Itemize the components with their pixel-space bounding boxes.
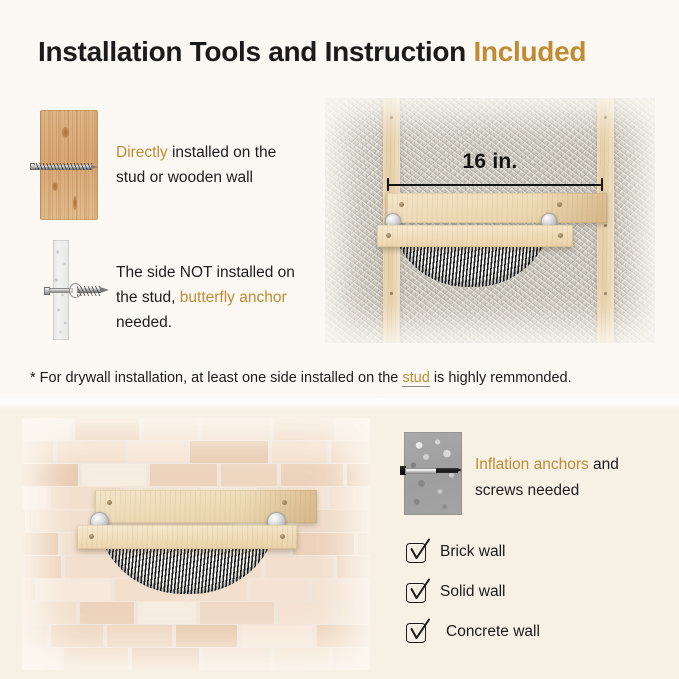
brick <box>22 602 76 624</box>
shelf-backplate <box>387 193 607 223</box>
brick-row <box>22 625 370 647</box>
checklist-label: Concrete wall <box>446 623 540 641</box>
brick-row <box>22 602 370 624</box>
cat-hammock-shelf <box>377 193 607 293</box>
checkmark-icon <box>408 618 432 644</box>
brick <box>64 648 128 670</box>
checklist-item-brick-wall[interactable]: Brick wall <box>406 532 540 572</box>
footnote-lead: * For drywall installation, at least one… <box>30 370 402 386</box>
checklist-item-concrete-wall[interactable]: Concrete wall <box>406 612 540 652</box>
checklist-label: Brick wall <box>440 543 505 561</box>
infographic-page: Installation Tools and Instruction Inclu… <box>0 0 679 679</box>
inflation-anchor-icon <box>400 466 462 475</box>
dimension-end-cap-right <box>601 178 603 191</box>
nail-icon <box>390 116 393 119</box>
brick <box>75 418 139 440</box>
wood-knot-icon <box>62 127 69 138</box>
shelf-backplate-bolt <box>107 500 112 505</box>
brick-row <box>22 464 370 486</box>
anchor-tip <box>457 468 462 472</box>
brick <box>22 533 58 555</box>
brick <box>143 418 197 440</box>
checklist-label: Solid wall <box>440 583 505 601</box>
brick <box>107 625 172 647</box>
brick <box>22 625 47 647</box>
brick <box>274 418 334 440</box>
brick <box>22 556 61 578</box>
checkmark-icon <box>408 538 432 564</box>
brick <box>132 648 199 670</box>
brick <box>337 556 370 578</box>
dimension-bar <box>387 184 603 186</box>
instruction-1-accent: Directly <box>116 144 168 161</box>
anchor-shaft <box>436 468 458 473</box>
nail-icon <box>604 116 607 119</box>
dimension-line <box>387 178 603 191</box>
anchor-note-accent: Inflation anchors <box>475 456 589 473</box>
footnote-accent: stud <box>402 370 429 387</box>
checkmark-icon <box>408 578 432 604</box>
shelf-bolt <box>89 534 94 539</box>
wood-knot-icon <box>73 196 77 210</box>
brick <box>80 602 134 624</box>
brick-row <box>22 418 370 440</box>
brick <box>221 464 277 486</box>
brick-row <box>22 441 370 463</box>
brick <box>330 487 370 509</box>
brick <box>272 441 327 463</box>
shelf-backplate-bolt <box>557 202 562 207</box>
screw-threads <box>35 163 92 170</box>
dimension-label: 16 in. <box>325 150 655 174</box>
instruction-text-1: Directly installed on the stud or wooden… <box>116 140 306 190</box>
brick-row <box>22 648 370 670</box>
brick <box>57 441 125 463</box>
brick-wall-photo <box>22 418 370 670</box>
brick <box>203 648 270 670</box>
brick <box>347 464 370 486</box>
brick <box>241 625 313 647</box>
shelf-bolt <box>386 233 391 238</box>
shelf-front-bar <box>377 225 573 247</box>
anchor-note-text: Inflation anchors and screws needed <box>475 452 660 504</box>
brick <box>331 441 370 463</box>
shelf-backplate-bolt <box>399 202 404 207</box>
stud-wall-photo: 16 in. <box>325 98 655 343</box>
brick <box>274 648 329 670</box>
brick <box>138 602 196 624</box>
brick <box>190 441 268 463</box>
brick <box>317 625 370 647</box>
shelf-backplate-bolt <box>282 500 287 505</box>
checkbox-checked[interactable] <box>406 581 428 603</box>
anchor-screw-threads <box>77 286 101 296</box>
brick <box>281 464 343 486</box>
screw-tip <box>91 165 98 169</box>
brick <box>22 418 71 440</box>
brick <box>22 441 53 463</box>
brick <box>333 648 370 670</box>
shelf-bolt <box>280 534 285 539</box>
page-title: Installation Tools and Instruction Inclu… <box>38 36 586 68</box>
brick <box>22 648 60 670</box>
shelf-front-bar <box>77 525 297 549</box>
instruction-2-accent: butterfly anchor <box>180 289 287 306</box>
brick <box>22 579 35 601</box>
checkbox-checked[interactable] <box>406 541 428 563</box>
brick <box>176 625 237 647</box>
brick <box>358 533 370 555</box>
butterfly-anchor-icon <box>44 283 110 298</box>
brick <box>22 510 25 532</box>
brick <box>22 464 78 486</box>
brick <box>150 464 217 486</box>
shelf-bolt <box>558 233 563 238</box>
brick <box>22 487 47 509</box>
brick <box>82 464 146 486</box>
cat-hammock-shelf <box>77 490 317 600</box>
footnote-text: * For drywall installation, at least one… <box>30 368 660 388</box>
brick <box>338 418 370 440</box>
checklist-item-solid-wall[interactable]: Solid wall <box>406 572 540 612</box>
brick <box>51 625 103 647</box>
section-divider <box>0 398 679 409</box>
checkbox-checked[interactable] <box>406 621 428 643</box>
brick <box>201 418 270 440</box>
footnote-tail: is highly remmonded. <box>430 370 572 386</box>
page-title-main: Installation Tools and Instruction <box>38 36 473 67</box>
brick <box>339 602 370 624</box>
page-title-accent: Included <box>473 36 586 67</box>
wood-screw-icon <box>30 163 98 170</box>
instruction-text-2: The side NOT installed on the stud, butt… <box>116 260 308 335</box>
anchor-sleeve <box>405 468 439 474</box>
brick <box>129 441 186 463</box>
brick <box>200 602 274 624</box>
instruction-2-tail: needed. <box>116 314 172 331</box>
wall-type-checklist: Brick wall Solid wall Concrete wall <box>406 532 540 652</box>
anchor-screw-tip <box>100 287 109 293</box>
brick <box>312 579 366 601</box>
wood-knot-icon <box>52 182 58 191</box>
brick <box>278 602 335 624</box>
